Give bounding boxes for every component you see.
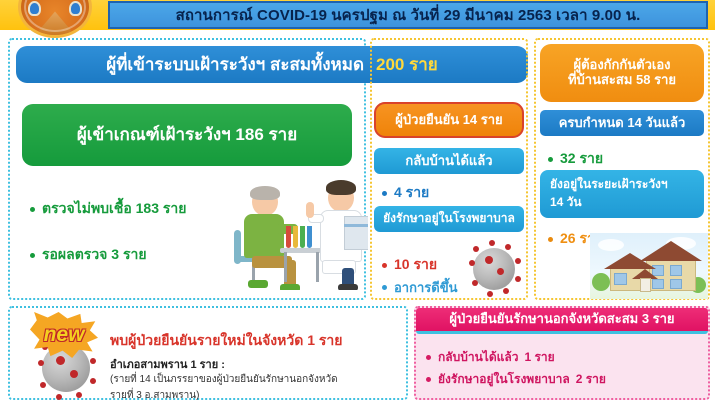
- in-hospital-pill: ยังรักษาอยู่ในโรงพยาบาล: [374, 206, 524, 232]
- in-hospital-status-row: อาการดีขึ้น: [382, 277, 457, 298]
- outside-in-hospital-row: ยังรักษาอยู่ในโรงพยาบาล 2 ราย: [426, 370, 606, 389]
- outside-discharged-value: 1 ราย: [524, 348, 554, 367]
- confirmed-header-pill: ผู้ป่วยยืนยัน 14 ราย: [374, 102, 524, 138]
- discharged-count: 4 ราย: [394, 182, 429, 204]
- quarantine-ongoing-line1: ยังอยู่ในระยะเฝ้าระวังฯ: [550, 178, 668, 192]
- outside-province-header-pill: ผู้ป่วยยืนยันรักษานอกจังหวัดสะสม 3 ราย: [416, 308, 708, 334]
- in-hospital-count: 10 ราย: [394, 254, 437, 276]
- bullet-dot-icon: [382, 191, 387, 196]
- quarantine-header-line2: ที่บ้านสะสม 58 ราย: [568, 73, 676, 88]
- quarantine-completed-count: 32 ราย: [560, 148, 603, 170]
- bullet-dot-icon: [426, 377, 431, 382]
- quarantine-completed-count-row: 32 ราย: [548, 148, 603, 170]
- new-case-district: อำเภอสามพราน 1 ราย :: [110, 355, 225, 373]
- surveillance-criteria-pill: ผู้เข้าเกณฑ์เฝ้าระวังฯ 186 ราย: [22, 104, 352, 166]
- new-case-note-line1: (รายที่ 14 เป็นภรรยาของผู้ป่วยยืนยันรักษ…: [110, 372, 338, 387]
- doctor-patient-illustration: [228, 172, 368, 290]
- quarantine-header-pill: ผู้ต้องกักกันตัวเอง ที่บ้านสะสม 58 ราย: [540, 44, 704, 102]
- quarantine-ongoing-pill: ยังอยู่ในระยะเฝ้าระวังฯ 14 วัน: [540, 170, 704, 218]
- surveillance-total-label: ผู้ที่เข้าระบบเฝ้าระวังฯ สะสมทั้งหมด: [106, 55, 364, 75]
- bullet-dot-icon: [382, 285, 387, 290]
- home-quarantine-illustration: [590, 233, 708, 299]
- bullet-dot-icon: [426, 355, 431, 360]
- quarantine-completed-pill: ครบกำหนด 14 วันแล้ว: [540, 110, 704, 136]
- covid-situation-infographic: สถานการณ์ COVID-19 นครปฐม ณ วันที่ 29 มี…: [0, 0, 715, 400]
- bullet-dot-icon: [382, 263, 387, 268]
- quarantine-ongoing-line2: 14 วัน: [550, 196, 582, 210]
- bullet-label: รอผลตรวจ 3 ราย: [42, 244, 147, 266]
- quarantine-header-line1: ผู้ต้องกักกันตัวเอง: [573, 58, 670, 73]
- province-seal-icon: [18, 0, 92, 38]
- test-tube-rack-icon: [286, 226, 291, 248]
- bullet-label: ตรวจไม่พบเชื้อ 183 ราย: [42, 198, 186, 220]
- new-case-note-line2: รายที่ 3 อ.สามพราน): [110, 388, 199, 400]
- outside-in-hospital-value: 2 ราย: [576, 370, 606, 389]
- page-title: สถานการณ์ COVID-19 นครปฐม ณ วันที่ 29 มี…: [108, 1, 708, 29]
- coronavirus-illustration: [463, 238, 525, 298]
- new-case-headline: พบผู้ป่วยยืนยันรายใหม่ในจังหวัด 1 ราย: [110, 330, 342, 352]
- bullet-dot-icon: [548, 237, 553, 242]
- outside-in-hospital-label: ยังรักษาอยู่ในโรงพยาบาล: [438, 370, 570, 389]
- bullet-pending-result: รอผลตรวจ 3 ราย: [30, 244, 147, 266]
- bullet-no-infection: ตรวจไม่พบเชื้อ 183 ราย: [30, 198, 186, 220]
- in-hospital-count-row: 10 ราย: [382, 254, 437, 276]
- bullet-dot-icon: [30, 253, 35, 258]
- outside-discharged-row: กลับบ้านได้แล้ว 1 ราย: [426, 348, 555, 367]
- discharged-count-row: 4 ราย: [382, 182, 429, 204]
- discharged-pill: กลับบ้านได้แล้ว: [374, 148, 524, 174]
- bullet-dot-icon: [548, 157, 553, 162]
- bullet-dot-icon: [30, 207, 35, 212]
- outside-discharged-label: กลับบ้านได้แล้ว: [438, 348, 518, 367]
- in-hospital-status: อาการดีขึ้น: [394, 277, 457, 298]
